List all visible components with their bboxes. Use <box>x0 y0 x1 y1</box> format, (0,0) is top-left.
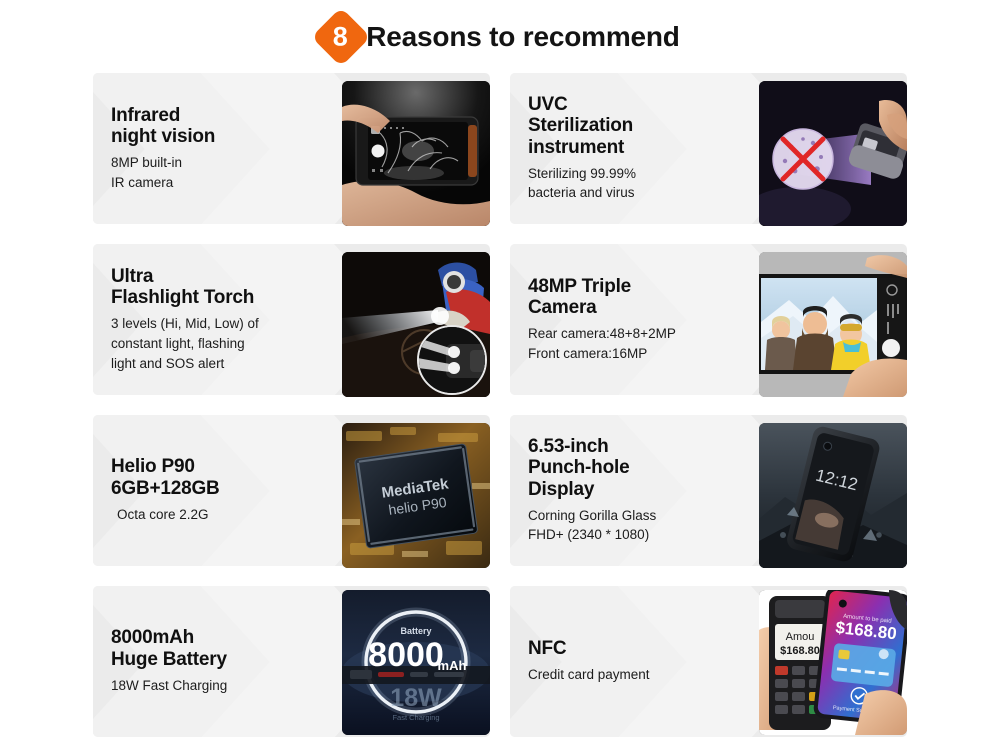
card-title: 48MP Triple Camera <box>528 276 676 319</box>
feature-card-uvc-sterilization-instrument: UVC Sterilization instrument Sterilizing… <box>510 73 907 224</box>
reason-count-badge: 8 <box>312 7 371 66</box>
feature-card-nfc: NFC Credit card payment <box>510 586 907 737</box>
svg-text:18W: 18W <box>390 684 442 712</box>
card-subtitle: Credit card payment <box>528 665 650 685</box>
card-text-block: 8000mAh Huge Battery 18W Fast Charging <box>93 627 235 695</box>
uvc-sterilizer-beam-photo <box>759 81 907 226</box>
feature-card-helio-p90: Helio P90 6GB+128GB Octa core 2.2G <box>93 415 490 566</box>
feature-card-infrared-night-vision: Infrared night vision 8MP built-in IR ca… <box>93 73 490 224</box>
rugged-phone-display-rocks-photo: 12:12 <box>759 423 907 568</box>
card-title: UVC Sterilization instrument <box>528 94 636 158</box>
feature-card-huge-battery: 8000mAh Huge Battery 18W Fast Charging <box>93 586 490 737</box>
svg-text:8000: 8000 <box>368 636 444 674</box>
card-text-block: Ultra Flashlight Torch 3 levels (Hi, Mid… <box>93 266 267 373</box>
card-subtitle: Rear camera:48+8+2MP Front camera:16MP <box>528 324 676 363</box>
badge-number: 8 <box>334 23 349 50</box>
nfc-pos-terminal-payment-photo: Amou $168.80 <box>759 590 907 735</box>
card-text-block: 48MP Triple Camera Rear camera:48+8+2MP … <box>510 276 684 364</box>
card-text-block: 6.53-inch Punch-hole Display Corning Gor… <box>510 436 664 545</box>
card-title: Infrared night vision <box>111 105 215 148</box>
card-title: Helio P90 6GB+128GB <box>111 456 220 499</box>
phone-camera-viewfinder-snow-photo <box>759 252 907 397</box>
hand-holding-phone-night-vision-photo <box>342 81 490 226</box>
feature-card-grid: Infrared night vision 8MP built-in IR ca… <box>93 73 907 737</box>
card-title: Ultra Flashlight Torch <box>111 266 259 309</box>
card-subtitle: 8MP built-in IR camera <box>111 153 215 192</box>
card-subtitle: 18W Fast Charging <box>111 676 227 696</box>
svg-text:Amou: Amou <box>786 631 815 643</box>
card-text-block: Helio P90 6GB+128GB Octa core 2.2G <box>93 456 228 524</box>
card-title: 6.53-inch Punch-hole Display <box>528 436 656 500</box>
card-text-block: Infrared night vision 8MP built-in IR ca… <box>93 105 223 193</box>
feature-card-ultra-flashlight-torch: Ultra Flashlight Torch 3 levels (Hi, Mid… <box>93 244 490 395</box>
svg-text:$168.80: $168.80 <box>780 645 820 657</box>
night-cyclist-torch-beam-photo <box>342 252 490 397</box>
page-title: Reasons to recommend <box>360 21 679 53</box>
card-subtitle: Corning Gorilla Glass FHD+ (2340 * 1080) <box>528 506 656 545</box>
card-text-block: NFC Credit card payment <box>510 638 658 685</box>
card-title: 8000mAh Huge Battery <box>111 627 227 670</box>
card-title: NFC <box>528 638 650 659</box>
card-subtitle: Sterilizing 99.99% bacteria and virus <box>528 164 636 203</box>
feature-card-punch-hole-display: 6.53-inch Punch-hole Display Corning Gor… <box>510 415 907 566</box>
mediatek-helio-p90-chip-photo: MediaTek helio P90 <box>342 423 490 568</box>
card-subtitle: 3 levels (Hi, Mid, Low) of constant ligh… <box>111 314 259 373</box>
battery-8000mah-graphic: Battery 8000 mAh 18W Fast Charging <box>342 590 490 735</box>
page-header: 8 Reasons to recommend <box>0 0 1000 73</box>
svg-text:Battery: Battery <box>400 626 431 636</box>
svg-text:mAh: mAh <box>438 658 467 673</box>
card-text-block: UVC Sterilization instrument Sterilizing… <box>510 94 644 203</box>
feature-card-48mp-triple-camera: 48MP Triple Camera Rear camera:48+8+2MP … <box>510 244 907 395</box>
svg-text:Fast Charging: Fast Charging <box>392 713 439 722</box>
card-subtitle: Octa core 2.2G <box>111 505 220 525</box>
